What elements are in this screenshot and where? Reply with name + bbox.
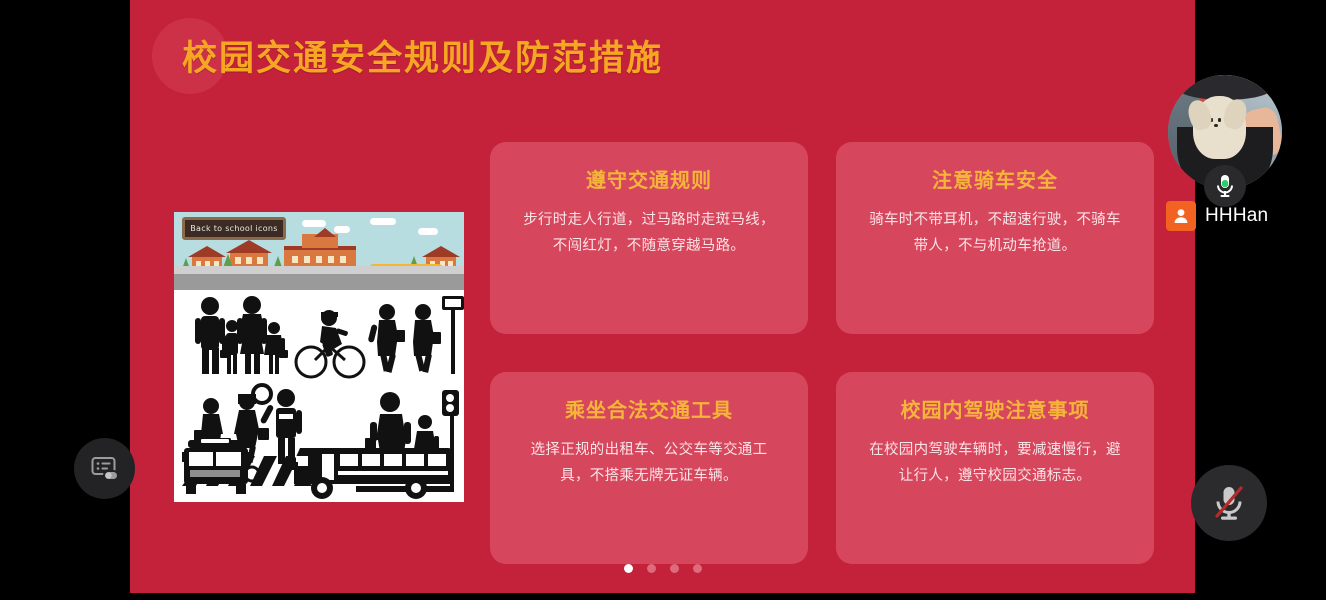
participant-name: HHHan: [1205, 205, 1268, 227]
presentation-panel-button[interactable]: [74, 438, 135, 499]
microphone-off-icon: [1211, 483, 1247, 523]
pagination-dots: [130, 564, 1195, 573]
card-body: 骑车时不带耳机，不超速行驶，不骑车带人，不与机动车抢道。: [862, 207, 1128, 259]
info-card-3[interactable]: 乘坐合法交通工具 选择正规的出租车、公交车等交通工具，不搭乘无牌无证车辆。: [490, 372, 808, 564]
chalkboard-sign: Back to school icons: [182, 217, 286, 240]
shared-slide[interactable]: 校园交通安全规则及防范措施: [130, 0, 1195, 593]
video-call-screen: 校园交通安全规则及防范措施: [0, 0, 1326, 600]
page-title: 校园交通安全规则及防范措施: [182, 30, 663, 81]
pagination-dot-2[interactable]: [647, 564, 656, 573]
participant-name-row: HHHan: [1166, 201, 1268, 231]
card-body: 在校园内驾驶车辆时，要减速慢行，避让行人，遵守校园交通标志。: [862, 437, 1128, 489]
card-body: 步行时走人行道，过马路时走斑马线，不闯红灯，不随意穿越马路。: [516, 207, 782, 259]
pagination-dot-3[interactable]: [670, 564, 679, 573]
card-title: 乘坐合法交通工具: [516, 394, 782, 423]
participant-tile[interactable]: [1168, 75, 1282, 189]
info-card-2[interactable]: 注意骑车安全 骑车时不带耳机，不超速行驶，不骑车带人，不与机动车抢道。: [836, 142, 1154, 334]
presentation-panel-icon: [90, 454, 120, 484]
card-body: 选择正规的出租车、公交车等交通工具，不搭乘无牌无证车辆。: [516, 437, 782, 489]
info-card-4[interactable]: 校园内驾驶注意事项 在校园内驾驶车辆时，要减速慢行，避让行人，遵守校园交通标志。: [836, 372, 1154, 564]
traffic-safety-illustration: Back to school icons: [167, 205, 467, 505]
bus-pictogram-group: [182, 438, 458, 502]
pagination-dot-1[interactable]: [624, 564, 633, 573]
person-glyph: [1172, 207, 1190, 225]
info-card-1[interactable]: 遵守交通规则 步行时走人行道，过马路时走斑马线，不闯红灯，不随意穿越马路。: [490, 142, 808, 334]
mute-microphone-button[interactable]: [1191, 465, 1267, 541]
microphone-glyph: [1215, 174, 1235, 198]
pagination-dot-4[interactable]: [693, 564, 702, 573]
person-icon: [1166, 201, 1196, 231]
card-title: 遵守交通规则: [516, 164, 782, 193]
card-title: 注意骑车安全: [862, 164, 1128, 193]
card-title: 校园内驾驶注意事项: [862, 394, 1128, 423]
